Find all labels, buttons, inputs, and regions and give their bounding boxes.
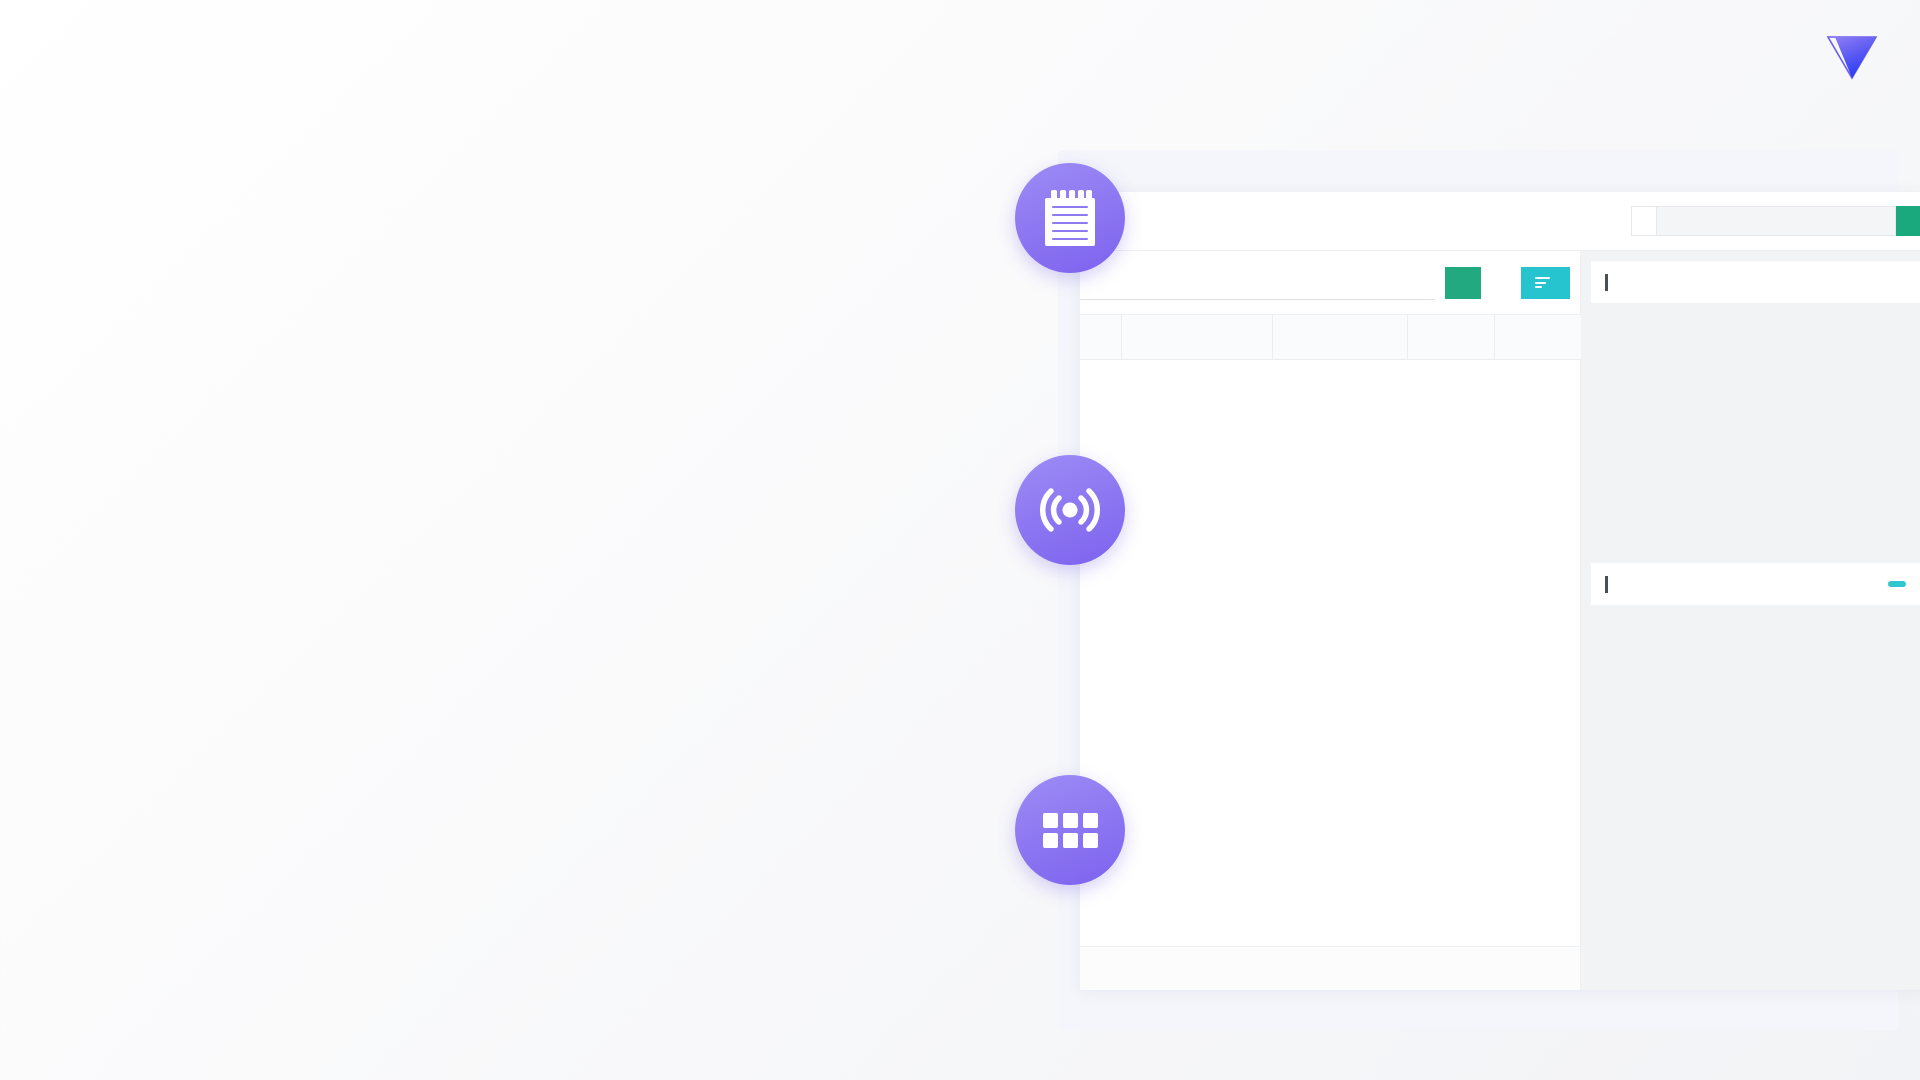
filter-icon	[1535, 277, 1550, 288]
task-overview-card-header	[1591, 261, 1920, 303]
section-marker	[1605, 274, 1608, 291]
section-marker	[1605, 576, 1608, 593]
current-unit-label	[1631, 206, 1656, 236]
grid-glyph	[1043, 813, 1098, 848]
donut-chart	[1698, 309, 1908, 524]
search-toolbar	[1080, 251, 1580, 315]
task-source-chart	[1591, 605, 1920, 837]
task-overview-chart	[1591, 303, 1920, 549]
notepad-glyph	[1045, 190, 1095, 246]
app-window	[1080, 192, 1920, 990]
app-body	[1080, 251, 1920, 990]
column-header-status	[1408, 315, 1495, 360]
signal-glyph	[1039, 482, 1101, 538]
search-input[interactable]	[1080, 265, 1435, 300]
column-header-progress-note	[1122, 315, 1273, 360]
task-source-count-badge	[1888, 581, 1906, 587]
column-header-progress	[1273, 315, 1408, 360]
column-header-action	[1495, 315, 1590, 360]
notepad-icon	[1015, 163, 1125, 273]
select-unit-button[interactable]	[1896, 206, 1920, 236]
column-header-feedback	[1080, 315, 1122, 360]
triangle-logo-icon	[1826, 34, 1878, 80]
app-screenshot-panel	[1058, 150, 1898, 1030]
current-unit-value	[1656, 206, 1896, 236]
feature-list	[0, 140, 820, 202]
table-header-row	[1080, 315, 1623, 360]
pagination	[1080, 946, 1580, 990]
grid-icon	[1015, 775, 1125, 885]
task-table	[1080, 315, 1623, 360]
stats-pane	[1581, 251, 1920, 990]
filter-button[interactable]	[1521, 267, 1570, 299]
signal-icon	[1015, 455, 1125, 565]
task-list-pane	[1080, 251, 1581, 990]
slide-canvas	[0, 0, 1920, 1080]
app-topbar	[1080, 192, 1920, 251]
search-button[interactable]	[1445, 267, 1481, 299]
current-unit-selector[interactable]	[1631, 206, 1920, 236]
task-source-card-header	[1591, 563, 1920, 605]
brand-header	[1808, 34, 1878, 80]
